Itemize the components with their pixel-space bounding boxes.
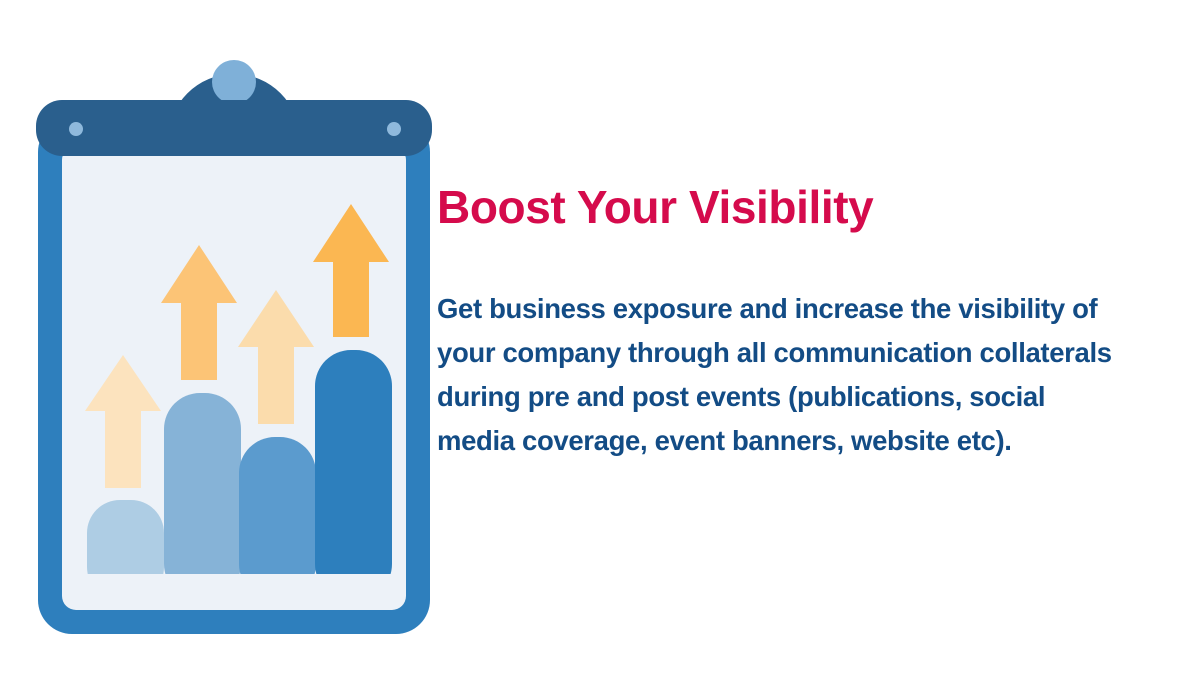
body-line-3: during pre and post events (publications… <box>437 375 1197 419</box>
body-copy: Get business exposure and increase the v… <box>437 233 1197 463</box>
body-line-1: Get business exposure and increase the v… <box>437 287 1197 331</box>
clip-rivet-right-icon <box>387 122 401 136</box>
page-title: Boost Your Visibility <box>437 183 1197 233</box>
clipboard-knob-icon <box>212 60 256 104</box>
chart-bar-2 <box>164 393 241 600</box>
clip-rivet-left-icon <box>69 122 83 136</box>
body-line-4: media coverage, event banners, website e… <box>437 419 1197 463</box>
body-line-2: your company through all communication c… <box>437 331 1197 375</box>
clipboard-clip-bar <box>36 100 432 156</box>
clipboard-growth-chart-illustration <box>0 0 460 675</box>
text-content: Boost Your Visibility Get business expos… <box>437 183 1197 463</box>
slide-canvas: Boost Your Visibility Get business expos… <box>0 0 1200 675</box>
chart-bar-4 <box>315 350 392 600</box>
